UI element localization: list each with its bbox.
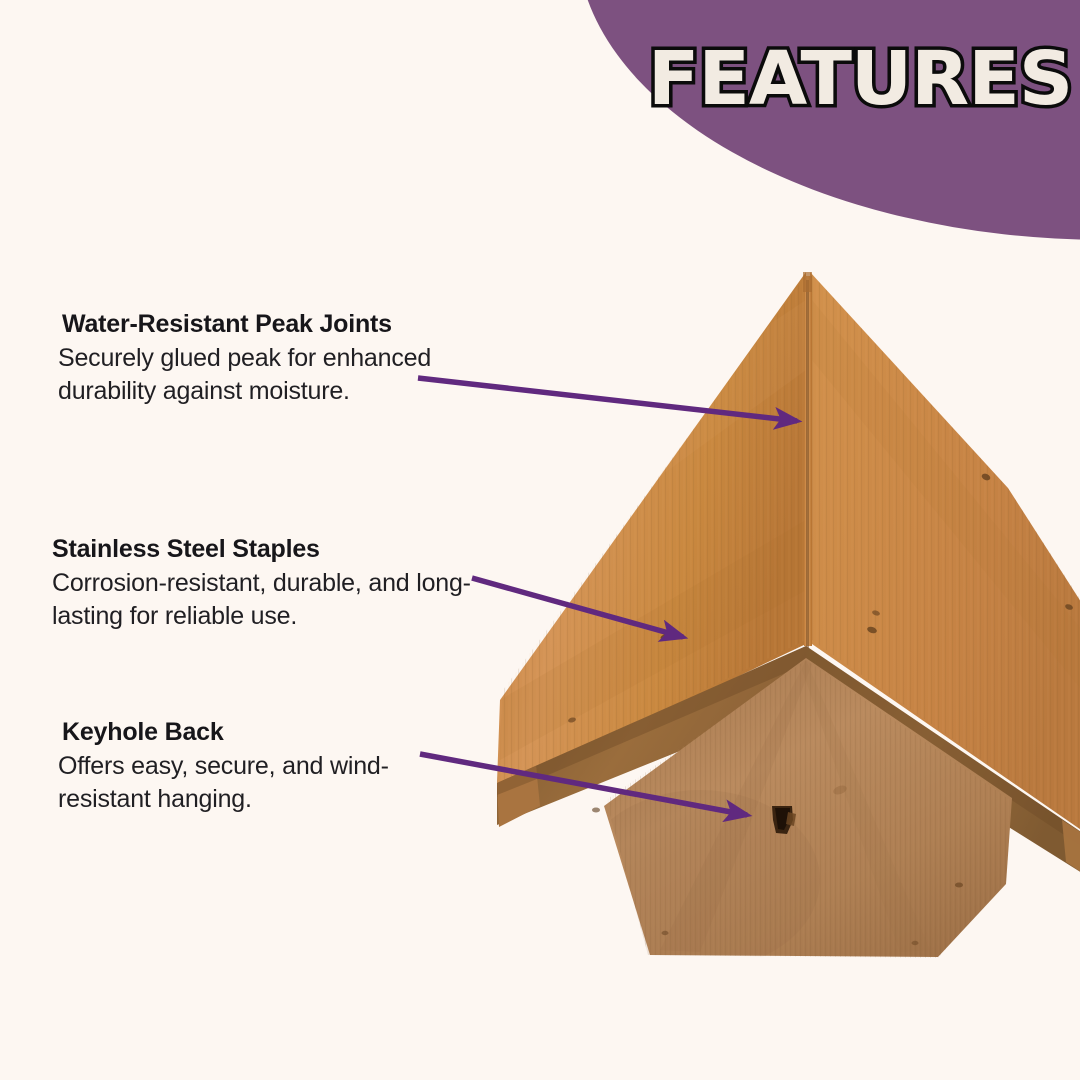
arrow-feature-2 [472, 578, 683, 637]
arrow-feature-1 [418, 378, 797, 421]
poster-canvas: FEATURES [0, 0, 1080, 1080]
arrow-feature-3 [420, 754, 747, 815]
callout-arrows [0, 0, 1080, 1080]
